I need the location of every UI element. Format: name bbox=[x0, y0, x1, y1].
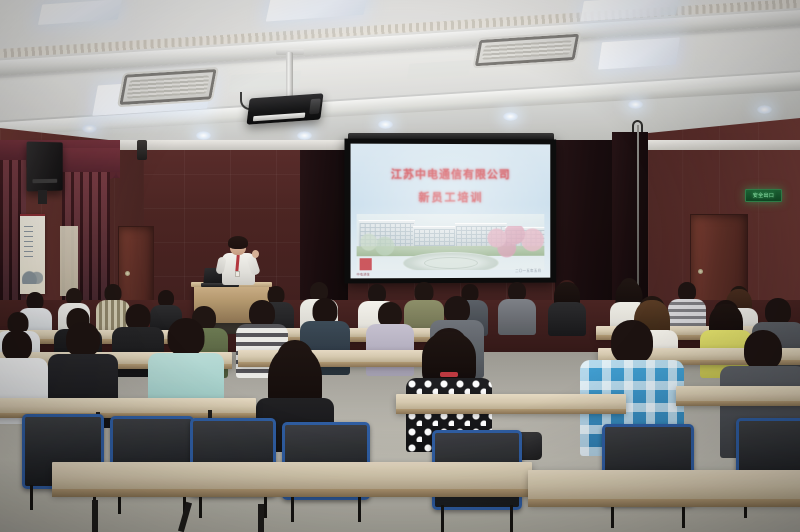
ceiling-panel-light bbox=[598, 37, 680, 69]
desk-row3-center bbox=[396, 394, 626, 412]
wall-speaker bbox=[27, 142, 63, 192]
building bbox=[413, 226, 457, 248]
downlight bbox=[628, 100, 643, 109]
downlight bbox=[297, 131, 312, 140]
person-head bbox=[66, 322, 100, 357]
ceiling-projector bbox=[246, 93, 323, 124]
presenter-badge bbox=[235, 271, 240, 277]
downlight bbox=[82, 124, 97, 133]
person-head bbox=[765, 298, 791, 325]
company-logo-caption: 中电通信 bbox=[357, 272, 370, 276]
slide-footer-note: 二〇一五年五月 bbox=[515, 268, 541, 273]
wall-phone bbox=[137, 140, 147, 160]
person-head bbox=[249, 300, 275, 327]
desk-edge bbox=[396, 409, 626, 414]
person-head bbox=[168, 318, 205, 356]
desk-leg bbox=[92, 500, 98, 532]
presenter bbox=[218, 238, 260, 290]
downlight bbox=[196, 131, 211, 140]
trees-left bbox=[359, 232, 399, 258]
conference-room-photo: 江苏中电通信有限公司 新员工培训 中电通信 二〇一五年五月 bbox=[0, 0, 800, 532]
projector-mount-pole bbox=[286, 52, 293, 100]
desk-foreground-left bbox=[52, 462, 532, 494]
slide-campus-photo bbox=[357, 214, 545, 270]
hanging-cable bbox=[637, 125, 639, 295]
company-logo bbox=[360, 258, 372, 270]
speaker-bracket bbox=[38, 190, 47, 204]
wall-notice-board bbox=[60, 226, 78, 296]
chair-frame bbox=[441, 505, 513, 532]
audience-person bbox=[498, 282, 536, 334]
person-head bbox=[444, 296, 470, 323]
downlight bbox=[757, 105, 772, 114]
door-knob-icon bbox=[125, 271, 130, 276]
door-knob-icon bbox=[698, 269, 703, 274]
presenter-hair bbox=[228, 236, 248, 249]
slide-title-line2: 新员工培训 bbox=[351, 189, 551, 205]
downlight bbox=[503, 112, 518, 121]
emergency-exit-sign: 安全出口 bbox=[745, 189, 782, 202]
desk-leg bbox=[258, 504, 264, 532]
person-lanyard bbox=[440, 372, 458, 377]
wall-scroll-painting bbox=[20, 214, 45, 294]
desk-row3-right bbox=[676, 386, 800, 404]
exit-sign-label: 安全出口 bbox=[753, 192, 775, 199]
person-head bbox=[611, 320, 653, 364]
blossom-trees-right bbox=[483, 226, 544, 260]
desk-foreground-right bbox=[528, 470, 800, 504]
person-torso bbox=[498, 299, 536, 335]
desk-edge bbox=[52, 489, 532, 497]
chair-frame bbox=[291, 496, 361, 522]
presentation-slide: 江苏中电通信有限公司 新员工培训 中电通信 二〇一五年五月 bbox=[351, 144, 551, 279]
slide-title-line1: 江苏中电通信有限公司 bbox=[351, 166, 551, 182]
person-head bbox=[2, 330, 32, 361]
air-conditioning-vent bbox=[117, 67, 219, 107]
projection-screen: 江苏中电通信有限公司 新员工培训 中电通信 二〇一五年五月 bbox=[344, 139, 556, 284]
presenter-hand bbox=[252, 250, 259, 258]
desk-edge bbox=[676, 401, 800, 406]
person-head bbox=[744, 330, 782, 370]
desk-edge bbox=[528, 499, 800, 507]
downlight bbox=[378, 120, 393, 129]
